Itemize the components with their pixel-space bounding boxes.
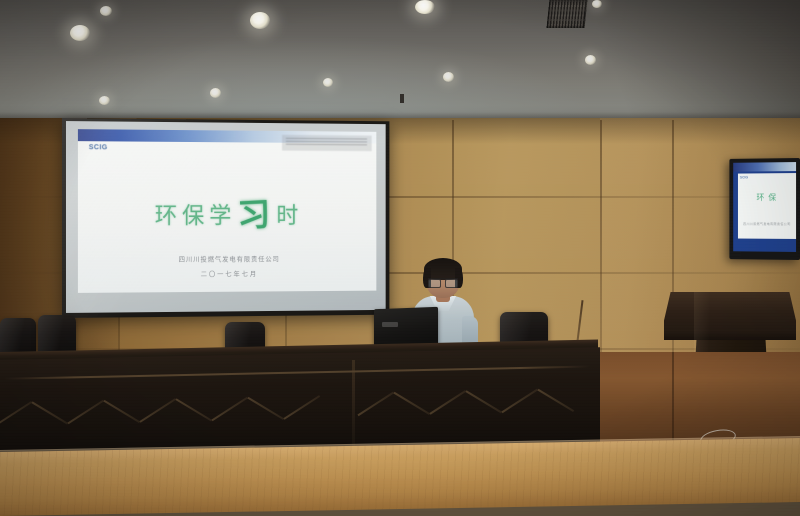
desk-zigzag-segment: [211, 397, 248, 422]
desk-zigzag-segment: [283, 395, 320, 420]
slide-title-brush-char: 习: [236, 188, 277, 237]
projection-screen: SCIG 环保学习时 四川川投燃气发电有限责任公司 二〇一七年七月: [62, 118, 389, 318]
desk-zigzag-segment: [501, 389, 538, 414]
ceiling-light-icon: [323, 78, 333, 87]
chair: [0, 318, 36, 356]
desk-zigzag-segment: [393, 392, 430, 415]
desk-zigzag-segment: [175, 398, 212, 421]
tv-slide-title: 环 保: [738, 192, 796, 203]
desk-zigzag-segment: [465, 390, 502, 413]
tv-slide-page: [738, 173, 796, 239]
desk-zigzag-segment: [139, 398, 176, 423]
glasses-icon: [428, 278, 458, 287]
tv-screen: SCIG 环 保 四川川投燃气发电有限责任公司: [733, 162, 796, 252]
ceiling-light-icon: [99, 96, 110, 105]
ceiling-light-icon: [250, 12, 270, 29]
desk-zigzag-segment: [537, 389, 574, 412]
tv-slide-logo: SCIG: [740, 175, 748, 179]
wall-mounted-tv: SCIG 环 保 四川川投燃气发电有限责任公司: [729, 158, 800, 260]
screen-surface: SCIG 环保学习时 四川川投燃气发电有限责任公司 二〇一七年七月: [66, 121, 386, 313]
ceiling-light-icon: [70, 25, 90, 41]
desk-zigzag-segment: [67, 400, 104, 425]
glasses-lens-left: [428, 279, 441, 288]
ceiling-light-icon: [585, 55, 596, 65]
tv-slide-header-bar: [733, 162, 796, 172]
ceiling-light-icon: [100, 6, 112, 16]
podium-lip: [664, 330, 796, 340]
desk-groove-line: [4, 366, 590, 380]
front-wood-grain: [0, 438, 800, 516]
slide-logo: SCIG: [89, 144, 108, 151]
desk-zigzag-segment: [31, 401, 68, 424]
slide-title: 环保学习时: [78, 185, 376, 233]
desk-zigzag-segment: [429, 390, 466, 415]
slide-subtitle-date: 二〇一七年七月: [78, 267, 376, 279]
slide-title-part2: 时: [276, 203, 303, 228]
desk-zigzag-segment: [103, 400, 140, 423]
chair-highlight: [0, 318, 36, 356]
ceiling-sensor-icon: [400, 94, 404, 103]
presentation-slide: SCIG 环保学习时 四川川投燃气发电有限责任公司 二〇一七年七月: [78, 129, 376, 293]
ceiling-shadow: [500, 0, 800, 120]
laptop-logo-icon: [382, 322, 398, 327]
ceiling-light-icon: [443, 72, 454, 82]
ceiling-light-icon: [592, 0, 602, 8]
slide-overlay-artifact-text: [286, 138, 367, 147]
air-vent-icon: [547, 0, 588, 28]
glasses-lens-right: [445, 279, 458, 288]
desk-zigzag-segment: [247, 397, 284, 420]
tv-slide-subtitle: 四川川投燃气发电有限责任公司: [738, 222, 796, 226]
slide-subtitle-company: 四川川投燃气发电有限责任公司: [78, 253, 376, 264]
ceiling-light-icon: [415, 0, 435, 14]
desk-zigzag-segment: [357, 392, 394, 417]
conference-room-photo: SCIG 环保学习时 四川川投燃气发电有限责任公司 二〇一七年七月 SCIG 环…: [0, 0, 800, 516]
desk-zigzag-segment: [0, 401, 32, 426]
ceiling-light-icon: [210, 88, 221, 98]
slide-title-part1: 环保学: [155, 203, 236, 229]
